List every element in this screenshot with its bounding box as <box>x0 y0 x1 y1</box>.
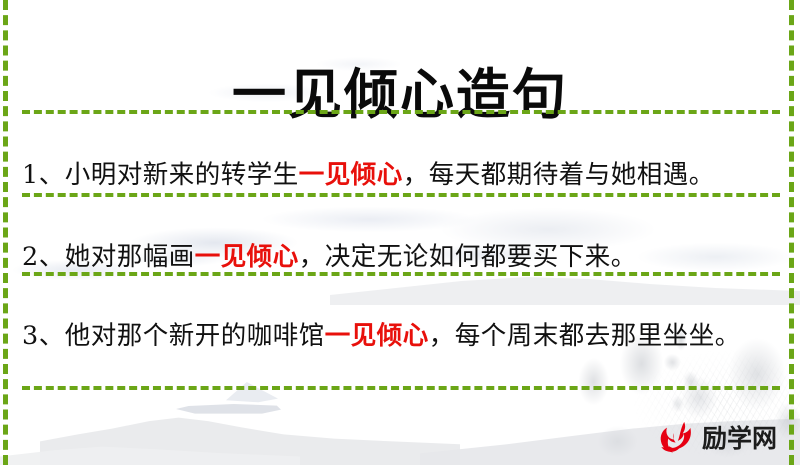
divider-between-sentence-2-and-3 <box>22 272 780 276</box>
sentence-1-idiom-highlight: 一见倾心 <box>299 160 403 190</box>
red-swirl-flame-icon <box>655 417 697 459</box>
sentence-1-index: 1、 <box>22 160 65 190</box>
divider-above-sentence-1 <box>22 110 780 114</box>
sentence-2-idiom-highlight: 一见倾心 <box>195 242 299 272</box>
sentence-1-text-after: ，每天都期待着与她相遇。 <box>403 160 715 190</box>
page-title: 一见倾心造句 <box>0 53 800 135</box>
sentence-2-text-before: 她对那幅画 <box>65 242 195 272</box>
sentence-1-text-before: 小明对新来的转学生 <box>65 160 299 190</box>
sentence-3-text-after: ，每个周末都去那里坐坐。 <box>429 321 741 351</box>
site-watermark-logo: 励学网 <box>655 414 795 462</box>
sentence-3-idiom-highlight: 一见倾心 <box>325 321 429 351</box>
site-watermark-logo-text: 励学网 <box>702 426 777 451</box>
divider-between-sentence-1-and-2 <box>22 193 780 197</box>
sentence-2-text-after: ，决定无论如何都要买下来。 <box>299 242 637 272</box>
poster-content: 一见倾心造句 1、小明对新来的转学生一见倾心，每天都期待着与她相遇。 2、她对那… <box>0 0 800 465</box>
poster-page: 一见倾心造句 1、小明对新来的转学生一见倾心，每天都期待着与她相遇。 2、她对那… <box>0 0 800 465</box>
sentence-item-1: 1、小明对新来的转学生一见倾心，每天都期待着与她相遇。 <box>22 155 764 196</box>
sentence-2-index: 2、 <box>22 242 65 272</box>
sentence-item-3: 3、他对那个新开的咖啡馆一见倾心，每个周末都去那里坐坐。 <box>22 316 764 357</box>
divider-below-sentence-3 <box>22 386 780 390</box>
sentence-3-index: 3、 <box>22 321 65 351</box>
sentence-3-text-before: 他对那个新开的咖啡馆 <box>65 321 325 351</box>
